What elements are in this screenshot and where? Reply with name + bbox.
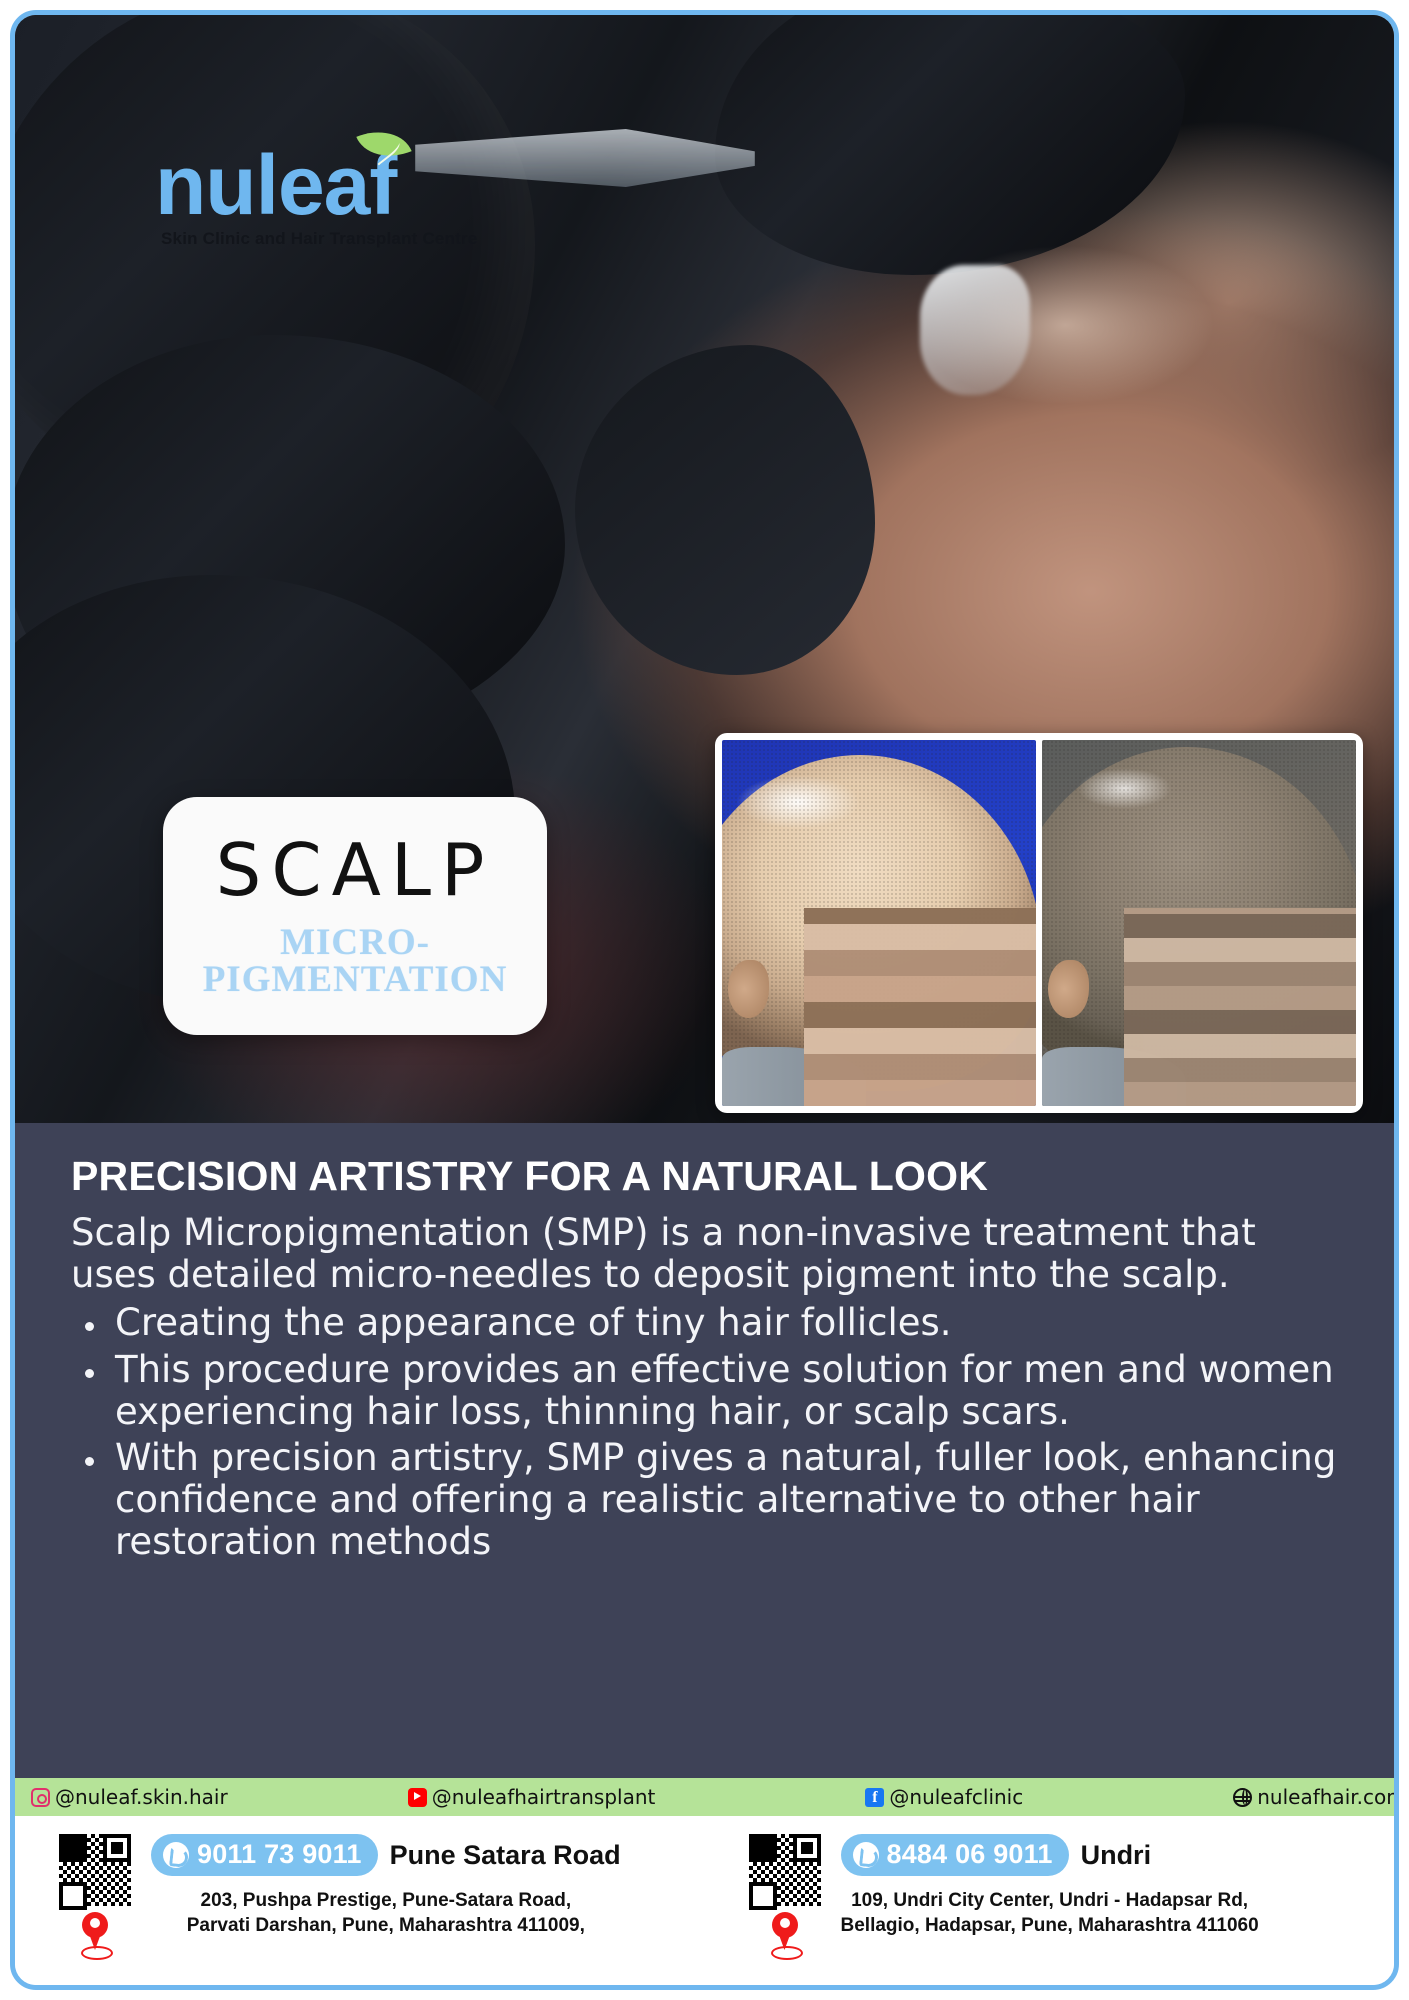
phone-button[interactable]: 8484 06 9011: [841, 1834, 1069, 1876]
branch-name: Pune Satara Road: [390, 1840, 621, 1871]
badge-subtitle: MICRO-PIGMENTATION: [163, 924, 547, 998]
badge-title: SCALP: [216, 834, 495, 906]
phone-button[interactable]: 9011 73 9011: [151, 1834, 378, 1876]
phone-icon: [853, 1842, 879, 1868]
qr-code[interactable]: [59, 1834, 131, 1906]
phone-row: 8484 06 9011 Undri: [841, 1834, 1259, 1876]
address-line-1: 109, Undri City Center, Undri - Hadapsar…: [841, 1888, 1259, 1913]
address: 109, Undri City Center, Undri - Hadapsar…: [841, 1888, 1259, 1938]
qr-eye-icon: [103, 1834, 131, 1862]
qr-code[interactable]: [749, 1834, 821, 1906]
address-line-2: Parvati Darshan, Pune, Maharashtra 41100…: [151, 1913, 621, 1938]
brand-logo: nuleaf Skin Clinic and Hair Transplant C…: [155, 143, 478, 249]
instagram-icon: [31, 1788, 50, 1807]
benefit-list: Creating the appearance of tiny hair fol…: [59, 1302, 1350, 1563]
social-handle: nuleafhair.com: [1257, 1785, 1399, 1809]
white-cloth: [920, 265, 1030, 395]
brand-tagline: Skin Clinic and Hair Transplant Centre: [161, 229, 478, 249]
address-line-1: 203, Pushpa Prestige, Pune-Satara Road,: [151, 1888, 621, 1913]
location-block-undri: 8484 06 9011 Undri 109, Undri City Cente…: [705, 1816, 1395, 1990]
list-item: With precision artistry, SMP gives a nat…: [59, 1437, 1350, 1564]
location-pin-icon: [770, 1912, 800, 1956]
hero-image: nuleaf Skin Clinic and Hair Transplant C…: [15, 15, 1394, 1123]
qr-eye-icon: [793, 1834, 821, 1862]
after-photo: [1042, 740, 1356, 1106]
panel-intro: Scalp Micropigmentation (SMP) is a non-i…: [71, 1212, 1350, 1296]
phone-icon: [163, 1842, 189, 1868]
info-panel: PRECISION ARTISTRY FOR A NATURAL LOOK Sc…: [15, 1123, 1394, 1778]
social-handle: @nuleafclinic: [889, 1785, 1023, 1809]
qr-and-pin-group: [49, 1834, 141, 1990]
location-pin-icon: [80, 1912, 110, 1956]
panel-heading: PRECISION ARTISTRY FOR A NATURAL LOOK: [71, 1153, 1350, 1200]
social-handle: @nuleaf.skin.hair: [55, 1785, 228, 1809]
address: 203, Pushpa Prestige, Pune-Satara Road, …: [151, 1888, 621, 1938]
after-ear: [1048, 960, 1089, 1019]
qr-and-pin-group: [739, 1834, 831, 1990]
phone-number: 8484 06 9011: [887, 1839, 1053, 1870]
list-item: Creating the appearance of tiny hair fol…: [59, 1302, 1350, 1344]
before-after-gallery: [715, 733, 1363, 1113]
location-block-pune-satara-road: 9011 73 9011 Pune Satara Road 203, Pushp…: [15, 1816, 705, 1990]
brand-wordmark: nuleaf: [155, 143, 396, 227]
scalp-badge: SCALP MICRO-PIGMENTATION: [163, 797, 547, 1035]
social-instagram[interactable]: @nuleaf.skin.hair: [31, 1785, 228, 1809]
phone-row: 9011 73 9011 Pune Satara Road: [151, 1834, 621, 1876]
social-youtube[interactable]: @nuleafhairtransplant: [408, 1785, 656, 1809]
youtube-icon: [408, 1788, 427, 1807]
facebook-icon: f: [865, 1788, 884, 1807]
location-info: 8484 06 9011 Undri 109, Undri City Cente…: [841, 1834, 1259, 1990]
poster-card: nuleaf Skin Clinic and Hair Transplant C…: [10, 10, 1399, 1990]
before-face-pixelation: [804, 908, 1036, 1106]
list-item: This procedure provides an effective sol…: [59, 1349, 1350, 1433]
branch-name: Undri: [1081, 1840, 1152, 1871]
social-facebook[interactable]: f @nuleafclinic: [865, 1785, 1023, 1809]
social-handle: @nuleafhairtransplant: [432, 1785, 656, 1809]
social-website[interactable]: nuleafhair.com: [1233, 1785, 1399, 1809]
website-icon: [1233, 1788, 1252, 1807]
after-face-pixelation: [1124, 908, 1356, 1106]
location-info: 9011 73 9011 Pune Satara Road 203, Pushp…: [151, 1834, 621, 1990]
contact-footer: 9011 73 9011 Pune Satara Road 203, Pushp…: [15, 1816, 1394, 1990]
before-ear: [728, 960, 769, 1019]
before-photo: [722, 740, 1036, 1106]
address-line-2: Bellagio, Hadapsar, Pune, Maharashtra 41…: [841, 1913, 1259, 1938]
phone-number: 9011 73 9011: [197, 1839, 362, 1870]
social-bar: @nuleaf.skin.hair @nuleafhairtransplant …: [15, 1778, 1394, 1816]
